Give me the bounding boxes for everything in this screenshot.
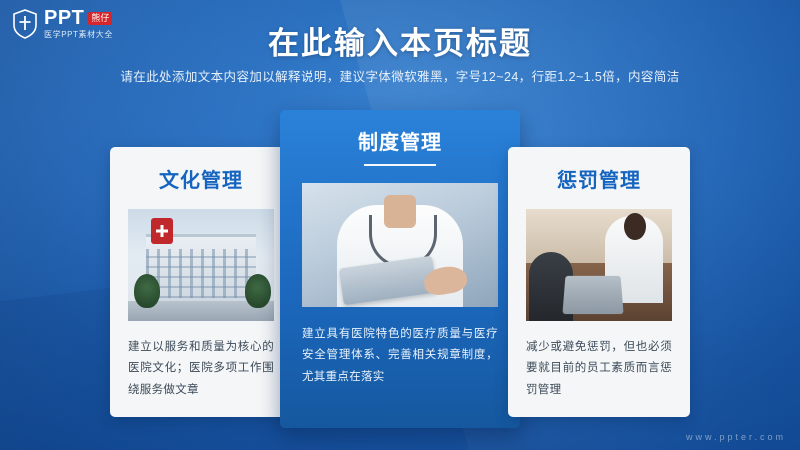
page-subtitle: 请在此处添加文本内容加以解释说明，建议字体微软雅黑，字号12~24，行距1.2~… xyxy=(0,66,800,85)
card-title-penalty: 惩罚管理 xyxy=(508,164,690,193)
footer-url: www.ppter.com xyxy=(686,432,786,442)
card-penalty[interactable]: 惩罚管理 减少或避免惩罚，但也必须要就目前的员工素质而言惩罚管理 xyxy=(508,147,690,417)
card-body-system: 建立具有医院特色的医疗质量与医疗安全管理体系、完善相关规章制度，尤其重点在落实 xyxy=(302,324,498,388)
doctor-with-tablet-photo xyxy=(302,183,498,307)
doctors-at-desk-photo xyxy=(526,209,672,321)
card-title-culture: 文化管理 xyxy=(110,164,292,193)
hospital-building-photo xyxy=(128,209,274,321)
cards-container: 文化管理 建立以服务和质量为核心的医院文化；医院多项工作围绕服务做文章 制度管理 xyxy=(0,110,800,430)
card-culture[interactable]: 文化管理 建立以服务和质量为核心的医院文化；医院多项工作围绕服务做文章 xyxy=(110,147,292,417)
card-system[interactable]: 制度管理 建立具有医院特色的医疗质量与医疗安全管理体系、完善相关规章制度，尤其重… xyxy=(280,110,520,428)
card-title-system: 制度管理 xyxy=(280,126,520,155)
page-title: 在此输入本页标题 xyxy=(0,18,800,63)
card-body-culture: 建立以服务和质量为核心的医院文化；医院多项工作围绕服务做文章 xyxy=(128,337,274,401)
card-body-penalty: 减少或避免惩罚，但也必须要就目前的员工素质而言惩罚管理 xyxy=(526,337,672,401)
slide: PPT 熊仔 医学PPT素材大全 在此输入本页标题 请在此处添加文本内容加以解释… xyxy=(0,0,800,450)
title-underline xyxy=(364,164,436,166)
